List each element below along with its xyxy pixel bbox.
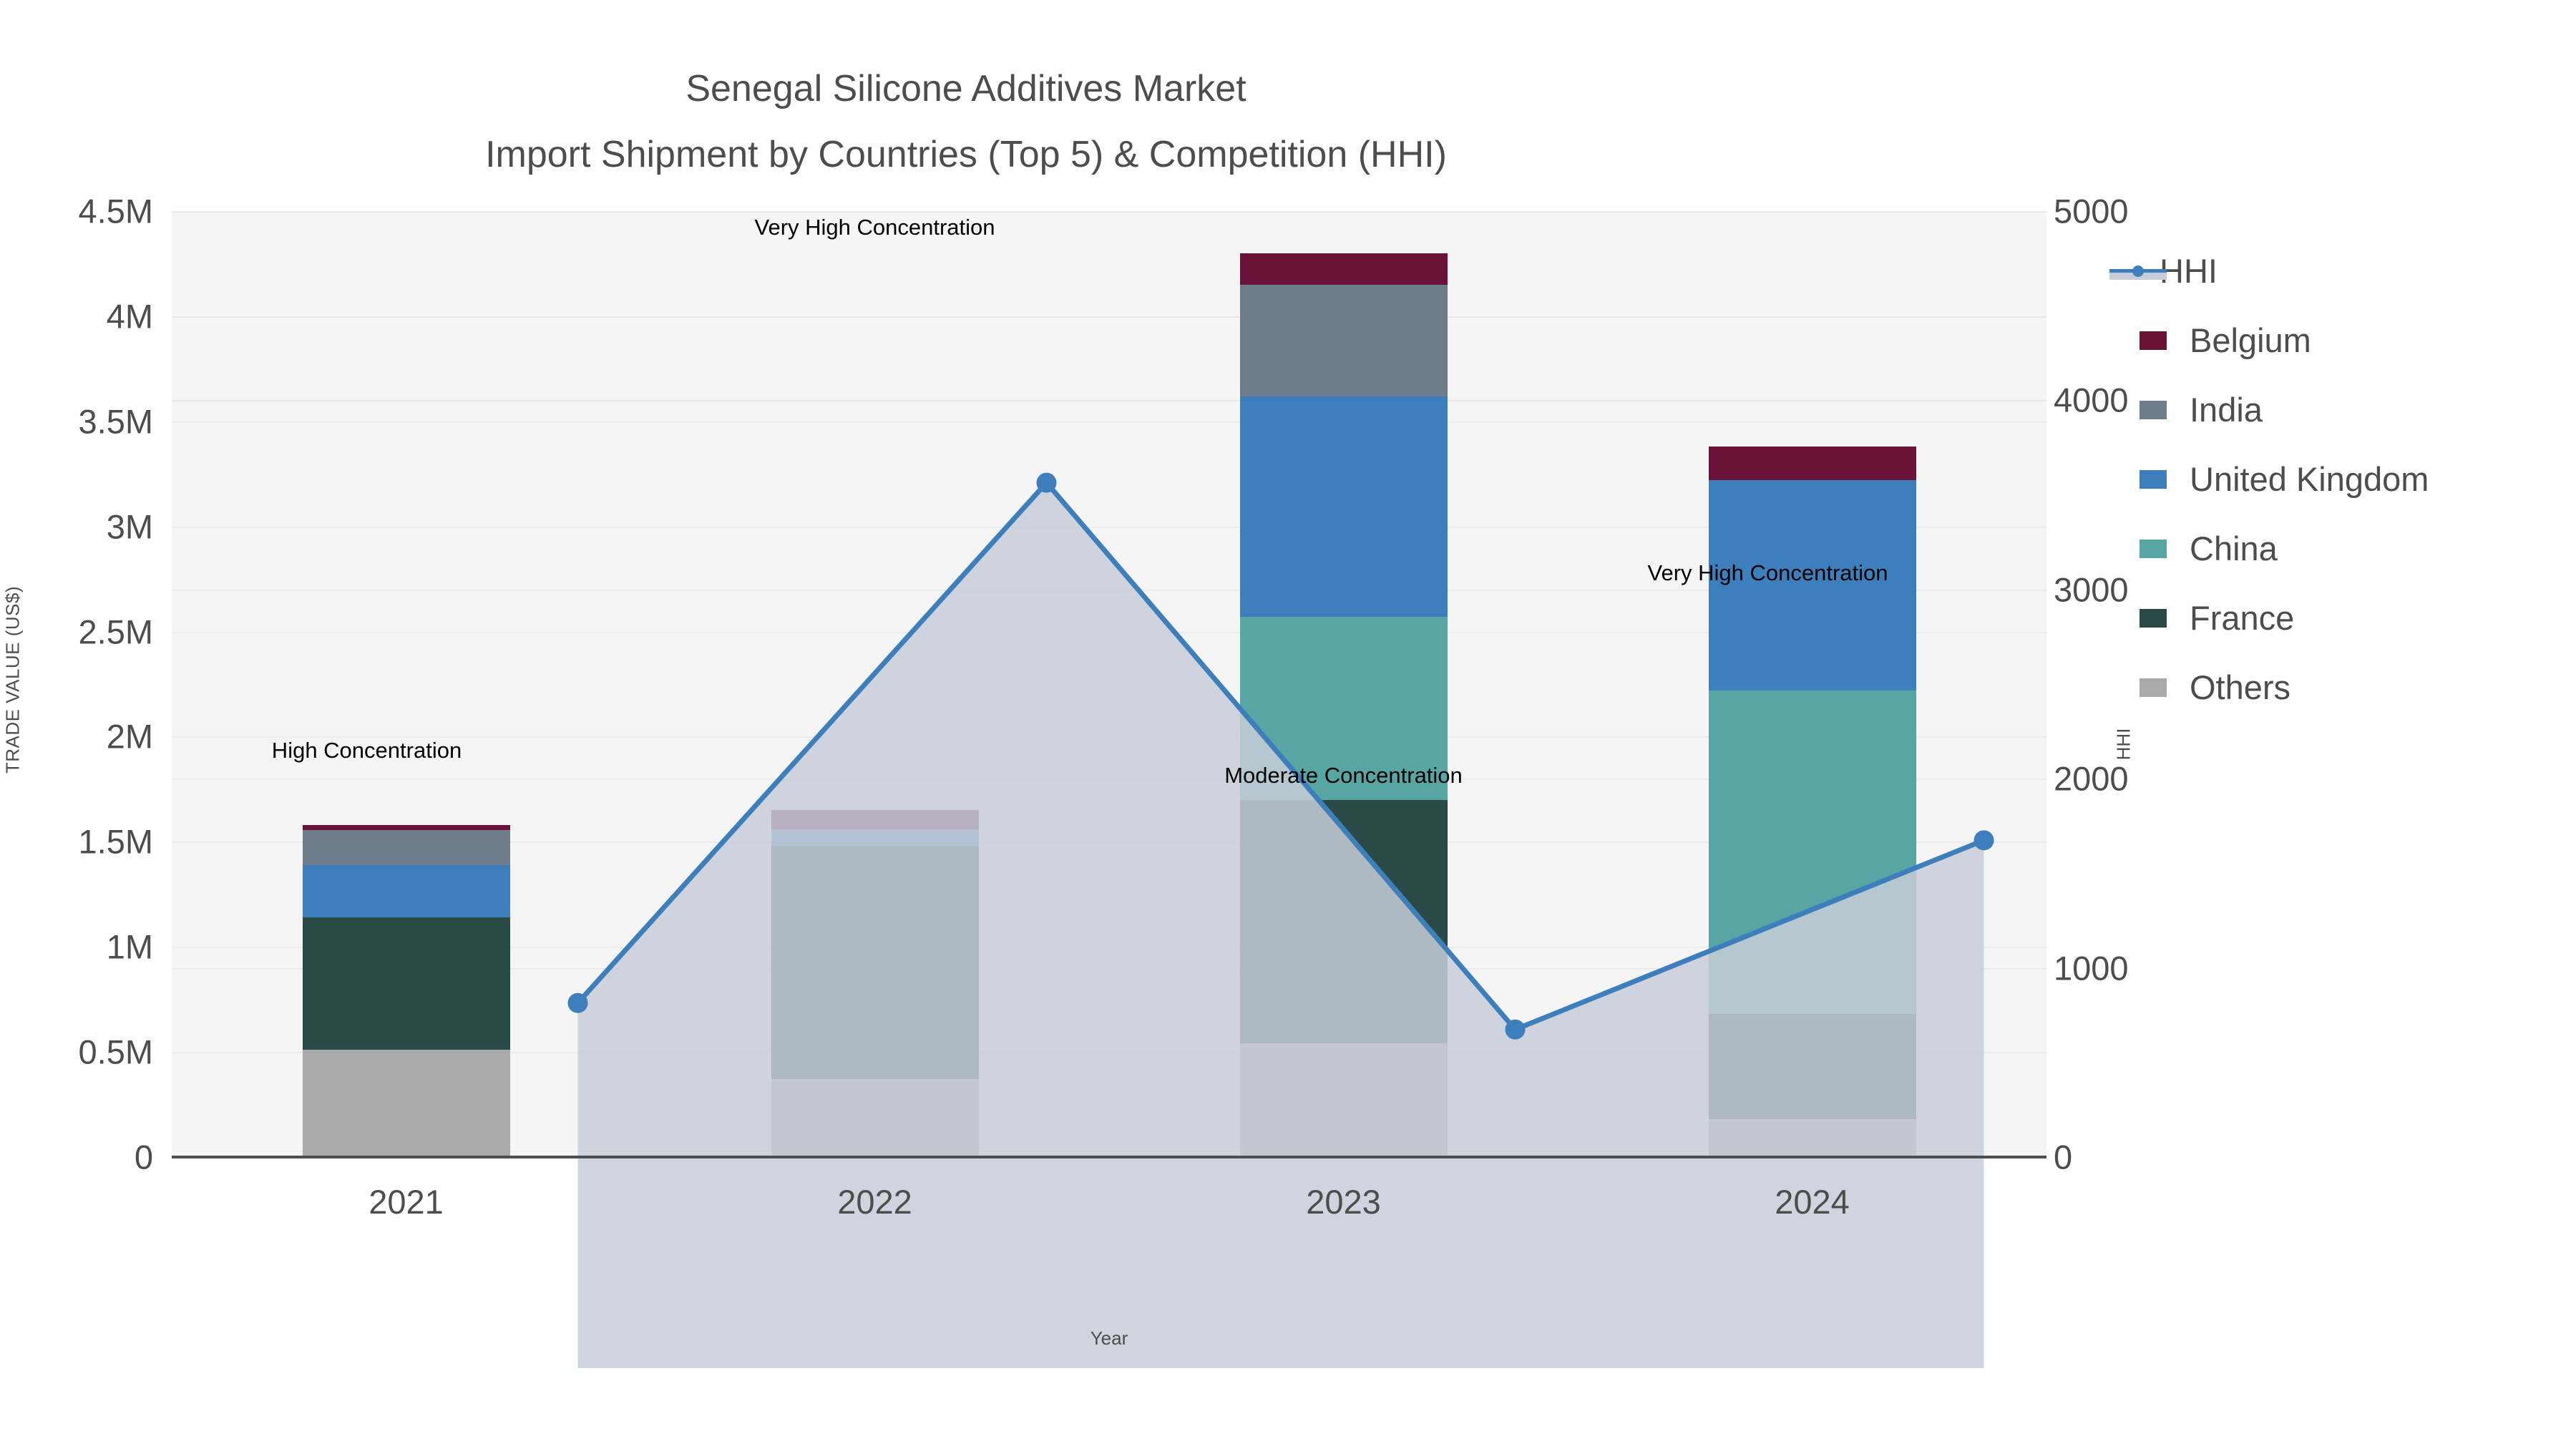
legend-item-others[interactable]: Others (2140, 653, 2569, 722)
bar-segment-others[interactable] (303, 1050, 510, 1157)
y-axis-right-tick: 5000 (2054, 192, 2129, 231)
legend-line-marker-icon (2109, 262, 2167, 280)
y-axis-left: 00.5M1M1.5M2M2.5M3M3.5M4M4.5M (0, 211, 166, 1157)
x-axis-tick-2022: 2022 (837, 1182, 912, 1221)
bar-segment-united_kingdom[interactable] (303, 865, 510, 917)
bar-segment-china[interactable] (1709, 691, 1916, 1014)
chart-title: Senegal Silicone Additives Market Import… (0, 56, 1932, 187)
bar-segment-india[interactable] (1240, 285, 1448, 396)
bar-segment-france[interactable] (303, 917, 510, 1050)
y-axis-left-tick: 3M (107, 507, 153, 546)
x-axis-tick-2023: 2023 (1306, 1182, 1381, 1221)
legend-item-united-kingdom[interactable]: United Kingdom (2140, 444, 2569, 514)
legend-swatch-icon (2140, 401, 2167, 419)
bar-segment-india[interactable] (303, 830, 510, 864)
hhi-point-2024[interactable] (1974, 830, 1994, 850)
plot-area: High ConcentrationVery High Concentratio… (172, 211, 2046, 1157)
y-axis-left-tick: 4.5M (79, 192, 154, 231)
bar-group-2022[interactable] (771, 211, 979, 1157)
legend-swatch-icon (2140, 470, 2167, 489)
hhi-point-2023[interactable] (1506, 1020, 1526, 1040)
bar-group-2024[interactable] (1709, 211, 1916, 1157)
x-axis-tick-2024: 2024 (1775, 1182, 1850, 1221)
y-axis-right-tick: 4000 (2054, 381, 2129, 420)
y-axis-right-tick: 2000 (2054, 759, 2129, 799)
legend-label: Others (2190, 668, 2290, 707)
bar-segment-france[interactable] (1240, 800, 1448, 1044)
legend-label: HHI (2160, 251, 2218, 291)
y-axis-left-tick: 1M (107, 927, 153, 967)
y-axis-left-tick: 2.5M (79, 612, 154, 651)
bar-group-2021[interactable] (303, 211, 510, 1157)
y-axis-left-tick: 0.5M (79, 1033, 154, 1072)
x-axis-tick-2021: 2021 (369, 1182, 444, 1221)
bar-group-2023[interactable] (1240, 211, 1448, 1157)
chart-title-line-1: Senegal Silicone Additives Market (0, 56, 1932, 122)
bar-segment-belgium[interactable] (303, 825, 510, 830)
legend-label: India (2190, 390, 2263, 429)
legend-swatch-icon (2140, 540, 2167, 558)
bar-segment-france[interactable] (1709, 1014, 1916, 1119)
hhi-point-2021[interactable] (568, 993, 588, 1013)
legend-swatch-icon (2140, 331, 2167, 350)
legend-label: France (2190, 598, 2294, 638)
y-axis-right-tick: 0 (2054, 1138, 2072, 1177)
x-axis: 2021202220232024 (172, 1166, 2046, 1252)
y-axis-left-title: TRADE VALUE (US$) (2, 586, 24, 774)
bar-segment-france[interactable] (771, 846, 979, 1079)
legend-swatch-icon (2140, 609, 2167, 628)
legend: HHIBelgiumIndiaUnited KingdomChinaFrance… (2140, 236, 2569, 722)
y-axis-right-tick: 3000 (2054, 570, 2129, 609)
legend-label: Belgium (2190, 321, 2311, 360)
legend-item-france[interactable]: France (2140, 583, 2569, 653)
annotation-2024: Very High Concentration (1647, 560, 1888, 586)
annotation-2022: Very High Concentration (754, 215, 995, 240)
x-axis-title: Year (1091, 1327, 1128, 1350)
bar-segment-belgium[interactable] (1240, 253, 1448, 285)
legend-label: China (2190, 529, 2278, 568)
legend-item-belgium[interactable]: Belgium (2140, 306, 2569, 375)
bar-segment-belgium[interactable] (771, 810, 979, 829)
chart-title-line-2: Import Shipment by Countries (Top 5) & C… (0, 122, 1932, 187)
hhi-point-2022[interactable] (1037, 473, 1057, 493)
bar-segment-united_kingdom[interactable] (771, 829, 979, 847)
y-axis-left-tick: 0 (135, 1138, 153, 1177)
legend-label: United Kingdom (2190, 459, 2429, 499)
y-axis-right-tick: 1000 (2054, 948, 2129, 987)
y-axis-left-tick: 2M (107, 717, 153, 756)
y-axis-left-tick: 3.5M (79, 401, 154, 441)
legend-item-hhi[interactable]: HHI (2140, 236, 2569, 306)
bar-segment-others[interactable] (1240, 1043, 1448, 1157)
bar-segment-others[interactable] (771, 1079, 979, 1157)
y-axis-right-title: HHI (2113, 728, 2135, 761)
y-axis-left-tick: 1.5M (79, 822, 154, 862)
annotation-2021: High Concentration (272, 738, 462, 763)
bar-segment-others[interactable] (1709, 1119, 1916, 1157)
bar-segment-united_kingdom[interactable] (1240, 396, 1448, 617)
x-axis-line (172, 1156, 2046, 1158)
legend-item-china[interactable]: China (2140, 514, 2569, 583)
legend-item-india[interactable]: India (2140, 375, 2569, 444)
annotation-2023: Moderate Concentration (1224, 763, 1463, 789)
y-axis-left-tick: 4M (107, 296, 153, 336)
legend-swatch-icon (2140, 678, 2167, 697)
bar-segment-belgium[interactable] (1709, 447, 1916, 480)
